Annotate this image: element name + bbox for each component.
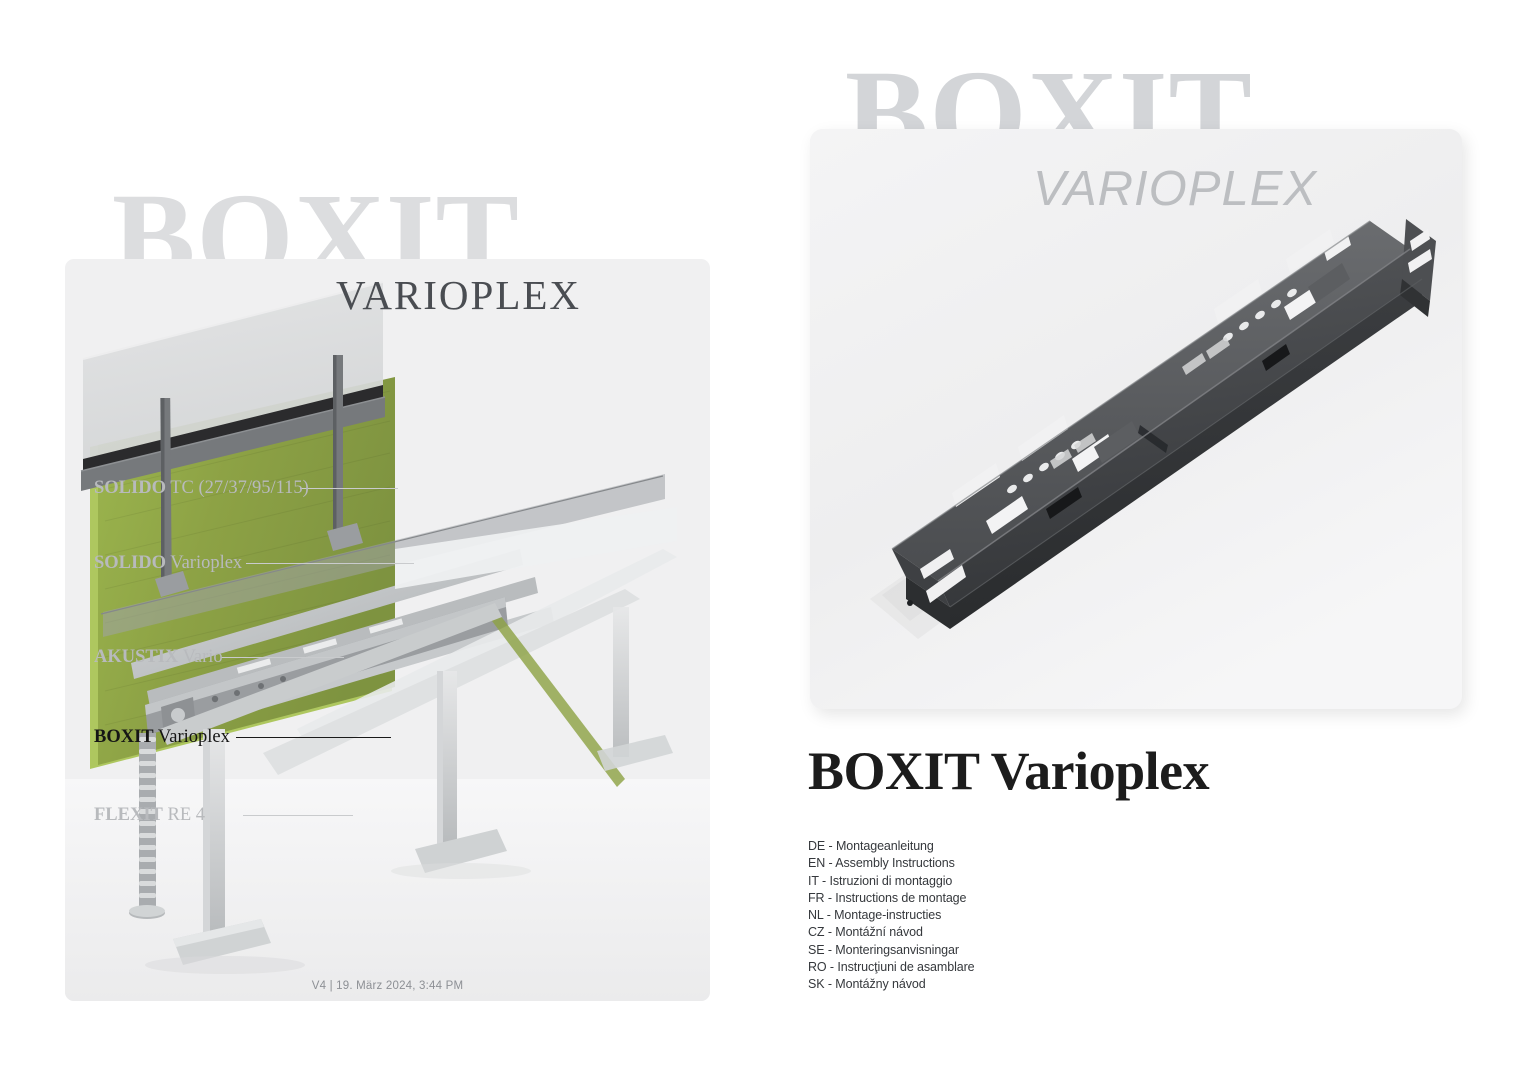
callout-label-solido-varioplex: SOLIDO Varioplex [94,554,242,573]
callout-rest-flexit-re4: RE 4 [163,805,205,825]
right-sub-brand-watermark: VARIOPLEX [1033,165,1317,214]
callout-strong-solido-varioplex: SOLIDO [94,553,166,573]
callout-label-boxit-varioplex: BOXIT Varioplex [94,728,230,747]
callout-rest-solido-varioplex: Varioplex [166,553,242,573]
callout-strong-flexit-re4: FLEXIT [94,805,163,825]
list-item: RO - Instrucţiuni de asamblare [808,959,975,976]
document-footer: V4 | 19. März 2024, 3:44 PM [65,980,710,992]
list-item: CZ - Montážní návod [808,924,975,941]
list-item: IT - Istruzioni di montaggio [808,873,975,890]
list-item: DE - Montageanleitung [808,838,975,855]
list-item: EN - Assembly Instructions [808,855,975,872]
left-sub-brand-watermark: VARIOPLEX [336,275,581,316]
list-item: SE - Monteringsanvisningar [808,942,975,959]
cable-tray-render-illustration [810,129,1462,709]
callout-leader-akustix-vario [221,657,344,658]
callout-strong-akustix-vario: AKUSTIX [94,647,178,667]
callout-rest-solido-tc: TC (27/37/95/115) [166,478,309,498]
page-title: BOXIT Varioplex [808,744,1209,798]
language-instruction-list: DE - Montageanleitung EN - Assembly Inst… [808,838,975,994]
callout-label-solido-tc: SOLIDO TC (27/37/95/115) [94,479,309,498]
list-item: FR - Instructions de montage [808,890,975,907]
callout-strong-solido-tc: SOLIDO [94,478,166,498]
left-illustration-panel: V4 | 19. März 2024, 3:44 PM [65,259,710,1001]
callout-leader-flexit-re4 [243,815,353,816]
desk-render-illustration [65,259,710,1001]
callout-leader-solido-varioplex [246,563,414,564]
callout-leader-solido-tc [300,488,398,489]
callout-rest-boxit-varioplex: Varioplex [154,727,230,747]
list-item: SK - Montážny návod [808,976,975,993]
callout-label-flexit-re4: FLEXIT RE 4 [94,806,205,825]
list-item: NL - Montage-instructies [808,907,975,924]
callout-strong-boxit-varioplex: BOXIT [94,727,154,747]
callout-label-akustix-vario: AKUSTIX Vario [94,648,223,667]
callout-leader-boxit-varioplex [236,737,391,738]
callout-rest-akustix-vario: Vario [178,647,222,667]
right-illustration-panel [810,129,1462,709]
